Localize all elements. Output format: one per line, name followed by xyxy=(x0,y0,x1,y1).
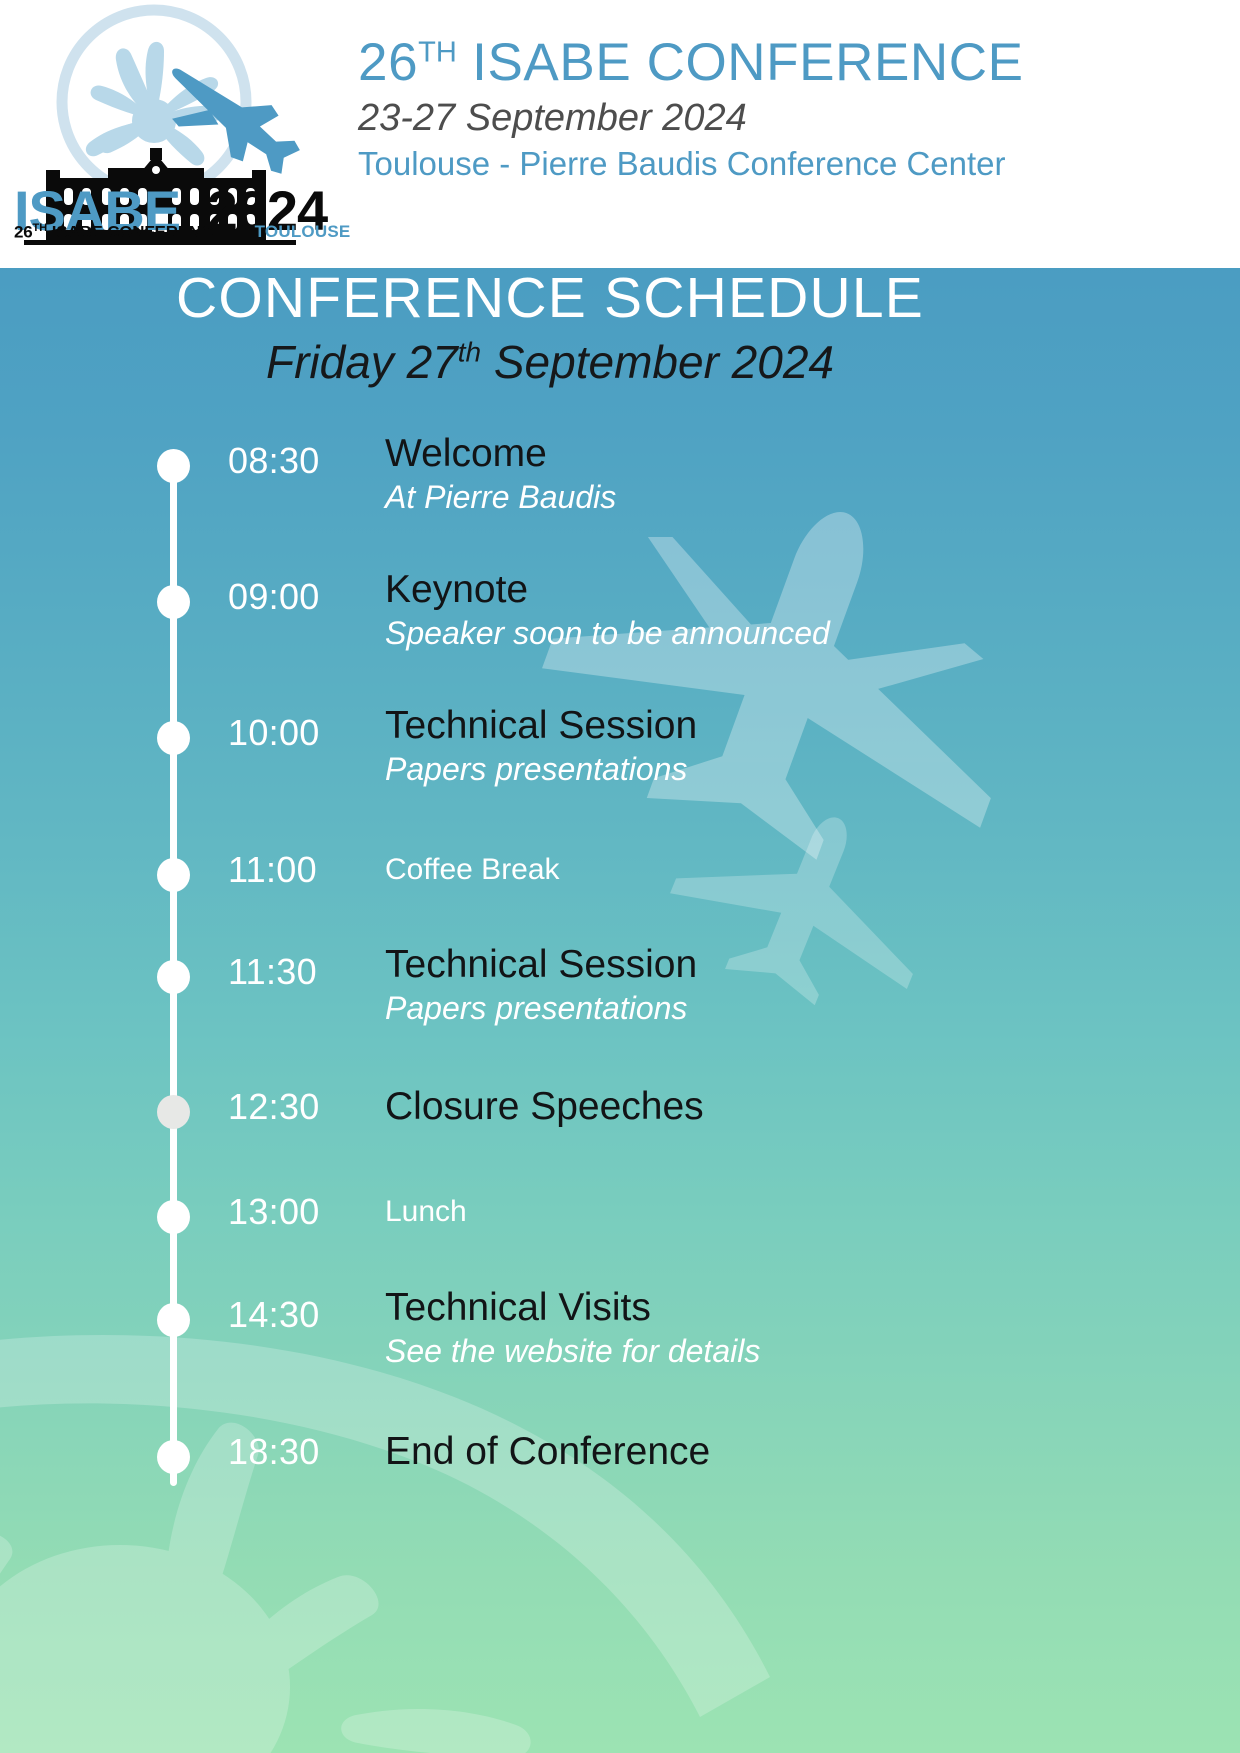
conference-dates: 23-27 September 2024 xyxy=(358,95,1024,141)
timeline-dot-icon xyxy=(157,721,190,755)
timeline-entry: Lunch xyxy=(385,1195,1185,1229)
timeline-dot-icon xyxy=(157,1095,190,1129)
timeline-entry-subtitle: Papers presentations xyxy=(385,751,1185,788)
timeline-entry: Keynote Speaker soon to be announced xyxy=(385,568,1185,651)
timeline-entry-title: Technical Session xyxy=(385,704,1185,748)
logo-tagline: 26TH ISABE CONFERENCE TOULOUSE xyxy=(14,222,344,242)
timeline-entry-title: Welcome xyxy=(385,432,1185,476)
poster-header: ISABE 2024 26TH ISABE CONFERENCE TOULOUS… xyxy=(0,0,1240,268)
schedule-body: CONFERENCE SCHEDULE Friday 27th Septembe… xyxy=(0,247,1240,1753)
timeline-entry-subtitle: Speaker soon to be announced xyxy=(385,615,1185,652)
logo-tagline-city: TOULOUSE xyxy=(255,222,351,241)
page-subtitle: Friday 27th September 2024 xyxy=(0,337,1100,388)
logo-tagline-sup: TH xyxy=(33,222,48,234)
timeline-entry-subtitle: See the website for details xyxy=(385,1333,1185,1370)
timeline-dot-icon xyxy=(157,1303,190,1337)
timeline-time: 18:30 xyxy=(228,1431,338,1473)
timeline-time: 09:00 xyxy=(228,576,338,618)
timeline-entry-title: End of Conference xyxy=(385,1430,1185,1474)
isabe-logo: ISABE 2024 26TH ISABE CONFERENCE TOULOUS… xyxy=(0,0,350,268)
timeline-time: 14:30 xyxy=(228,1294,338,1336)
timeline-entry-title: Lunch xyxy=(385,1195,1185,1229)
timeline-time: 11:00 xyxy=(228,849,338,891)
timeline-entry-subtitle: At Pierre Baudis xyxy=(385,479,1185,516)
schedule-heading-block: CONFERENCE SCHEDULE Friday 27th Septembe… xyxy=(0,269,1100,387)
logo-tagline-number: 26 xyxy=(14,222,33,241)
timeline-entry: Technical Visits See the website for det… xyxy=(385,1286,1185,1369)
timeline-dot-icon xyxy=(157,449,190,483)
page-subtitle-ordinal: th xyxy=(458,337,481,368)
conference-title-rest: ISABE CONFERENCE xyxy=(457,33,1024,92)
timeline-time: 10:00 xyxy=(228,712,338,754)
timeline-entry: Technical Session Papers presentations xyxy=(385,943,1185,1026)
conference-title-ordinal: TH xyxy=(418,36,457,68)
timeline-time: 11:30 xyxy=(228,951,338,993)
timeline-dot-icon xyxy=(157,858,190,892)
timeline-entry-title: Technical Visits xyxy=(385,1286,1185,1330)
header-text-block: 26TH ISABE CONFERENCE 23-27 September 20… xyxy=(350,0,1024,183)
conference-title-number: 26 xyxy=(358,33,418,92)
conference-venue: Toulouse - Pierre Baudis Conference Cent… xyxy=(358,144,1024,184)
timeline-entry: Technical Session Papers presentations xyxy=(385,704,1185,787)
timeline-entry: Closure Speeches xyxy=(385,1085,1185,1129)
page-title: CONFERENCE SCHEDULE xyxy=(0,269,1100,329)
timeline-dot-icon xyxy=(157,1200,190,1234)
conference-schedule-poster: ISABE 2024 26TH ISABE CONFERENCE TOULOUS… xyxy=(0,0,1240,1753)
timeline-dot-icon xyxy=(157,585,190,619)
page-subtitle-month: September 2024 xyxy=(481,336,834,388)
timeline-time: 13:00 xyxy=(228,1191,338,1233)
timeline-time: 12:30 xyxy=(228,1086,338,1128)
timeline-entry: End of Conference xyxy=(385,1430,1185,1474)
timeline-dot-icon xyxy=(157,960,190,994)
timeline-entry: Welcome At Pierre Baudis xyxy=(385,432,1185,515)
timeline-entry-title: Keynote xyxy=(385,568,1185,612)
page-subtitle-date: Friday 27 xyxy=(266,336,458,388)
turbine-swirl-decoration xyxy=(0,1335,770,1753)
timeline-entry-subtitle: Papers presentations xyxy=(385,990,1185,1027)
timeline-entry-title: Coffee Break xyxy=(385,853,1185,887)
timeline-entry: Coffee Break xyxy=(385,853,1185,887)
logo-tagline-rest: ISABE CONFERENCE xyxy=(47,222,224,241)
timeline-time: 08:30 xyxy=(228,440,338,482)
timeline-dot-icon xyxy=(157,1440,190,1474)
timeline-entry-title: Closure Speeches xyxy=(385,1085,1185,1129)
conference-title: 26TH ISABE CONFERENCE xyxy=(358,34,1024,91)
timeline-entry-title: Technical Session xyxy=(385,943,1185,987)
